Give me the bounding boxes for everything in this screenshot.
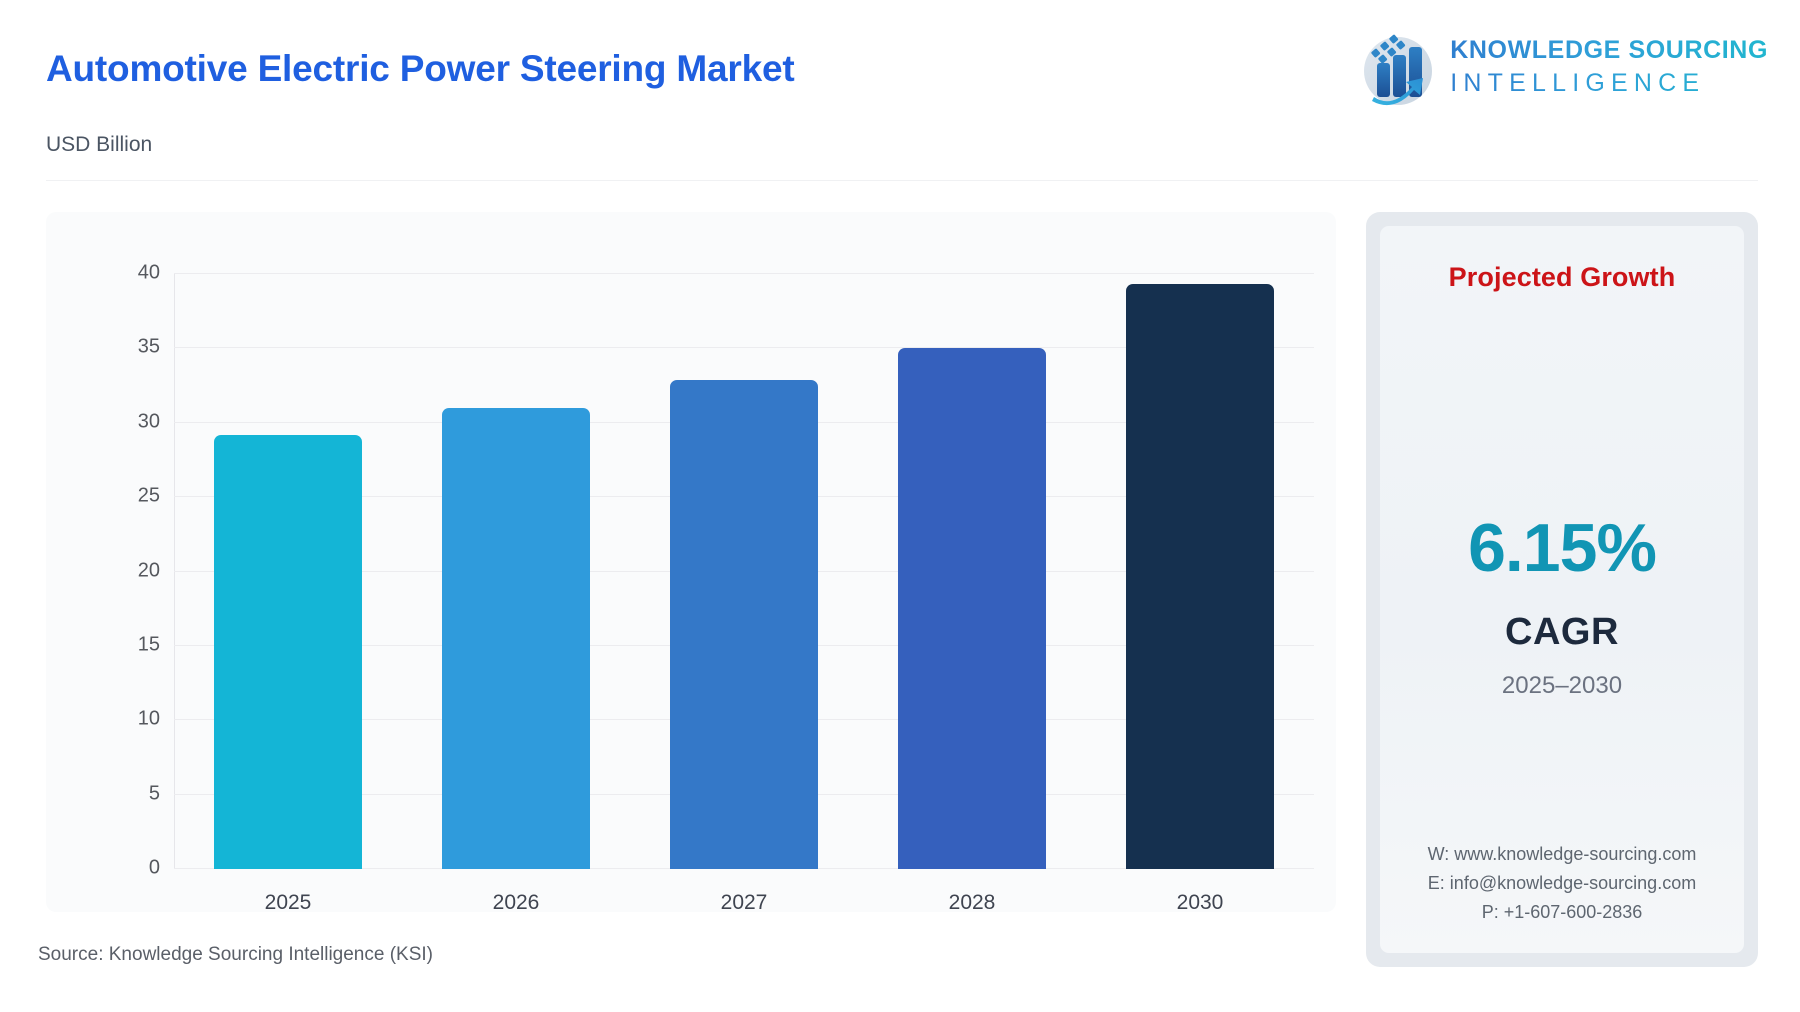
y-axis-tick-label: 15 <box>138 633 160 656</box>
bar-group: 2026 <box>413 274 618 869</box>
header: Automotive Electric Power Steering Marke… <box>0 0 1800 182</box>
x-axis-tick-label: 2026 <box>493 891 540 915</box>
header-divider <box>46 180 1758 181</box>
contact-block: W: www.knowledge-sourcing.com E: info@kn… <box>1380 840 1744 927</box>
y-axis-tick-label: 35 <box>138 336 160 359</box>
y-axis-tick-label: 0 <box>149 857 160 880</box>
page-subtitle: USD Billion <box>46 133 152 157</box>
bar-series: 20252026202720282030 <box>174 274 1314 869</box>
logo-line-primary: KNOWLEDGE SOURCING <box>1450 36 1768 65</box>
source-note: Source: Knowledge Sourcing Intelligence … <box>38 944 433 966</box>
y-axis-tick-label: 30 <box>138 410 160 433</box>
cagr-value: 6.15% <box>1380 509 1744 587</box>
bar-2026[interactable] <box>442 408 590 869</box>
panel-heading: Projected Growth <box>1380 262 1744 293</box>
cagr-label: CAGR <box>1380 611 1744 654</box>
page-title: Automotive Electric Power Steering Marke… <box>46 48 794 90</box>
logo-line-secondary: INTELLIGENCE <box>1450 69 1768 98</box>
bar-group: 2028 <box>869 274 1074 869</box>
bar-2025[interactable] <box>214 435 362 869</box>
x-axis-tick-label: 2027 <box>721 891 768 915</box>
x-axis-tick-label: 2030 <box>1177 891 1224 915</box>
logo-wordmark: KNOWLEDGE SOURCING INTELLIGENCE <box>1450 36 1768 98</box>
y-axis-tick-label: 10 <box>138 708 160 731</box>
infographic-page: Automotive Electric Power Steering Marke… <box>0 0 1800 1012</box>
contact-website: W: www.knowledge-sourcing.com <box>1380 840 1744 869</box>
contact-phone: P: +1-607-600-2836 <box>1380 898 1744 927</box>
x-axis-tick-label: 2028 <box>949 891 996 915</box>
bar-group: 2025 <box>185 274 390 869</box>
contact-email: E: info@knowledge-sourcing.com <box>1380 869 1744 898</box>
cagr-period: 2025–2030 <box>1380 672 1744 700</box>
y-axis-tick-label: 20 <box>138 559 160 582</box>
bar-2028[interactable] <box>898 348 1046 869</box>
bar-2030[interactable] <box>1126 284 1274 869</box>
chart-card: 0510152025303540 20252026202720282030 <box>46 212 1336 912</box>
brand-logo: KNOWLEDGE SOURCING INTELLIGENCE <box>1354 24 1768 110</box>
projected-growth-card: Projected Growth 6.15% CAGR 2025–2030 W:… <box>1380 226 1744 953</box>
bar-group: 2030 <box>1097 274 1302 869</box>
globe-logo-icon <box>1354 25 1438 109</box>
y-axis-tick-label: 40 <box>138 262 160 285</box>
projected-growth-panel: Projected Growth 6.15% CAGR 2025–2030 W:… <box>1366 212 1758 967</box>
plot-area: 0510152025303540 20252026202720282030 <box>174 274 1314 869</box>
x-axis-tick-label: 2025 <box>265 891 312 915</box>
y-axis-tick-label: 25 <box>138 485 160 508</box>
bar-group: 2027 <box>641 274 846 869</box>
bar-2027[interactable] <box>670 380 818 869</box>
y-axis-tick-label: 5 <box>149 782 160 805</box>
